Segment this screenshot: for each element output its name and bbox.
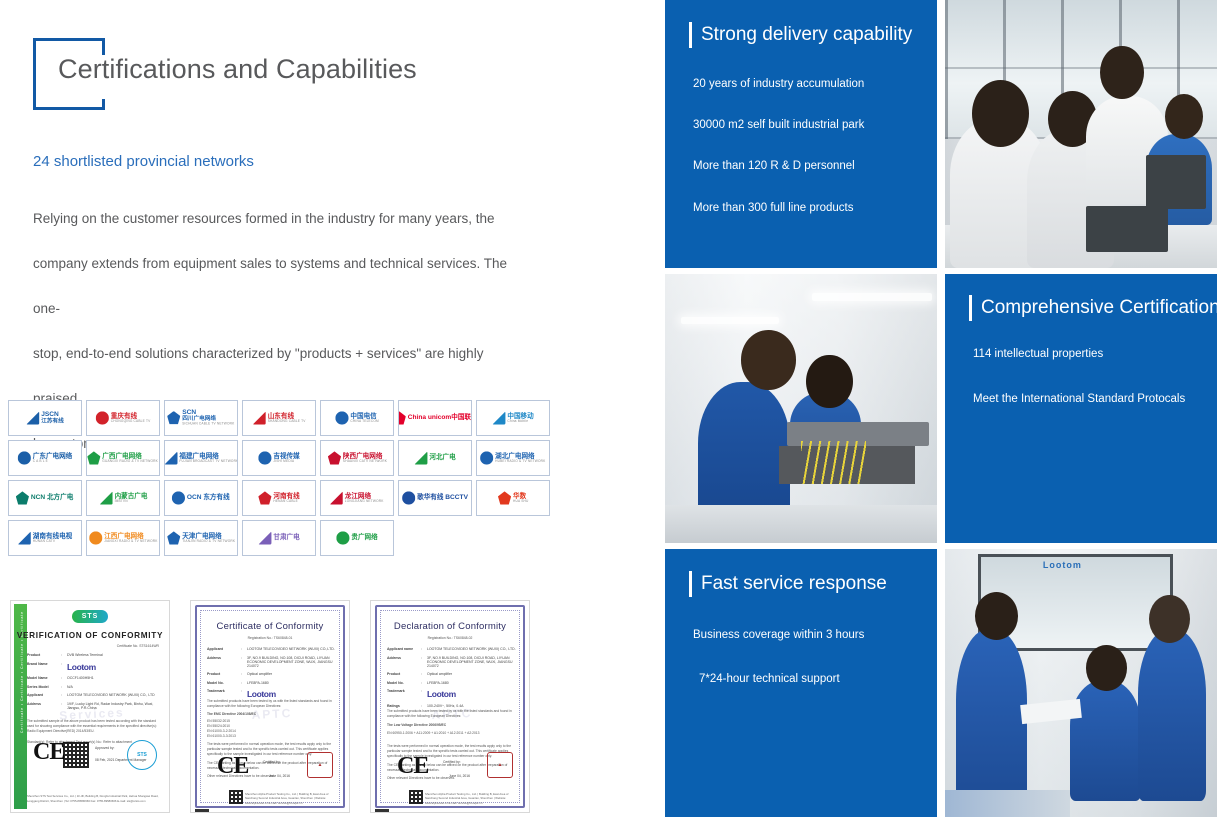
certificate-field: Model No.:LFE8PA-1680 xyxy=(207,681,339,685)
certificate-field-list: Applicant:LOOTOM TELECOVIDEO NETWORK (WU… xyxy=(207,647,339,704)
logo-name: 歌华有线 BCCTV xyxy=(417,495,468,502)
guangxi-network-logo xyxy=(88,451,101,464)
partner-logo-cell[interactable]: 湖北广电网络HUBEI RADIO & TV NETWORK xyxy=(476,440,550,476)
certificate-standards: EN 60950-1:2006 + A11:2009 + A1:2010 + A… xyxy=(387,731,519,736)
card-bullet-list: Business coverage within 3 hours 7*24-ho… xyxy=(693,629,923,685)
standard-line: EN 61000-3-3:2013 xyxy=(207,734,339,739)
certificate-field: Brand Name:Lootom xyxy=(27,662,159,672)
logo-subtitle: SHAANXI CATV NETWORK xyxy=(342,460,386,463)
guangdong-cable-logo xyxy=(18,451,31,464)
hubei-network-logo xyxy=(480,451,493,464)
field-value: 19/F, Lucky Light Rd, Radar Industry Par… xyxy=(67,702,159,710)
logo-text: 广西广电网络GUANGXI RADIO & TV NETWORK xyxy=(103,453,159,463)
field-value: Optical amplifier xyxy=(427,672,519,676)
partner-logo-cell[interactable]: 甘肃广电 xyxy=(242,520,316,556)
page-edge-marker xyxy=(195,809,209,813)
henan-cable-logo xyxy=(258,491,271,504)
field-key: Product xyxy=(387,672,421,676)
field-key: Series Model xyxy=(27,685,61,689)
sts-logo-icon: STS xyxy=(72,610,108,623)
field-value: 100-240V~, 50Hz, 0.4A xyxy=(427,704,519,708)
official-seal-icon: ▲ xyxy=(307,752,333,778)
field-value-brand: Lootom xyxy=(427,689,519,699)
china-mobile-logo xyxy=(492,411,505,424)
huashu-logo xyxy=(498,491,511,504)
field-key: Model No. xyxy=(207,681,241,685)
logo-text: 中国移动China Mobile xyxy=(507,413,533,423)
field-value: LOOTOM TELECOVIDEO NETWORK (WUXI) CO., L… xyxy=(427,647,519,651)
field-value: Optical amplifier xyxy=(247,672,339,676)
partner-logo-cell[interactable]: 贵广网络 xyxy=(320,520,394,556)
logo-lockup: 陕西广电网络SHAANXI CATV NETWORK xyxy=(327,451,386,464)
logo-text: 湖南有线电视HUNAN CATV xyxy=(33,533,72,543)
hunan-catv-logo xyxy=(18,531,31,544)
field-value: OCCF1400H5H1 xyxy=(67,676,159,680)
card-title: Strong delivery capability xyxy=(701,24,912,46)
partner-logo-cell[interactable]: 龙江网络LONGJIANG NETWORK xyxy=(320,480,394,516)
ce-mark-icon: CE xyxy=(33,739,64,766)
official-seal-icon: STS xyxy=(127,740,157,770)
card-heading: Fast service response xyxy=(689,571,887,597)
field-value: 3F, NO.9 BUILDING, NO.108, DICUI ROAD, L… xyxy=(247,656,339,668)
signature-label: Certified by: xyxy=(263,760,281,764)
logo-lockup: 江西广电网络JIANGXI RADIO & TV NETWORK xyxy=(89,531,157,544)
qr-code-icon xyxy=(409,790,423,804)
logo-text: 中国电信CHINA TELECOM xyxy=(350,413,378,423)
field-key: Applicant xyxy=(207,647,241,651)
partner-logo-cell[interactable]: 河北广电 xyxy=(398,440,472,476)
logo-text: 江西广电网络JIANGXI RADIO & TV NETWORK xyxy=(104,533,157,543)
capability-card-comprehensive-certifications: Comprehensive Certifications 114 intelle… xyxy=(945,274,1217,543)
guigang-network-logo xyxy=(336,531,349,544)
logo-subtitle: SHANDONG CABLE TV xyxy=(268,420,306,423)
card-bullet-list: 114 intellectual properties Meet the Int… xyxy=(973,348,1203,405)
shaanxi-network-logo xyxy=(327,451,340,464)
bcctv-logo xyxy=(402,491,415,504)
field-value: LFE8PA-1680 xyxy=(427,681,519,685)
partner-logo-cell[interactable]: 江西广电网络JIANGXI RADIO & TV NETWORK xyxy=(86,520,160,556)
signature-date: June 04, 2016 xyxy=(449,774,470,778)
certificate-field: Applicant:LOOTOM TELECOVIDEO NETWORK (WU… xyxy=(27,693,159,697)
logo-lockup: 华数HUA SHU xyxy=(498,491,529,504)
logo-text: 龙江网络LONGJIANG NETWORK xyxy=(345,493,384,503)
photo-production-floor xyxy=(665,274,937,543)
list-item: More than 120 R & D personnel xyxy=(693,160,923,172)
partner-logo-cell[interactable]: OCN 东方有线 xyxy=(164,480,238,516)
logo-lockup: China unicom中国联通 xyxy=(398,411,472,424)
list-item: More than 300 full line products xyxy=(693,202,923,214)
logo-text: NCN 北方广电 xyxy=(31,495,73,502)
logo-lockup: 歌华有线 BCCTV xyxy=(402,491,468,504)
list-item: 30000 m2 self built industrial park xyxy=(693,119,923,131)
photo-office-discussion: Lootom xyxy=(945,549,1217,817)
logo-text: 福建广电网络FUJIAN BROADCAST TV NETWORK xyxy=(179,453,238,463)
capability-card-strong-delivery: Strong delivery capability 20 years of i… xyxy=(665,0,937,268)
logo-text: 广东广电网络C A B L E xyxy=(33,453,72,463)
partner-logo-cell[interactable]: China unicom中国联通 xyxy=(398,400,472,436)
certificate-field: Applicant:LOOTOM TELECOVIDEO NETWORK (WU… xyxy=(207,647,339,651)
logo-text: SCN四川广电网络SICHUAN CABLE TV NETWORK xyxy=(182,410,234,426)
certificate-registration: Registration No.: TS60848-02 xyxy=(371,636,529,640)
field-key: Trademark xyxy=(207,689,241,699)
gansu-radio-tv-logo xyxy=(258,531,271,544)
logo-name: 河北广电 xyxy=(429,455,455,462)
ncn-logo xyxy=(16,491,29,504)
logo-text: 天津广电网络TIANJIN RADIO & TV NETWORK xyxy=(182,533,235,543)
field-key: Address xyxy=(207,656,241,668)
partner-logo-cell[interactable]: 广东广电网络C A B L E xyxy=(8,440,82,476)
partner-logo-cell[interactable]: 中国电信CHINA TELECOM xyxy=(320,400,394,436)
person-head xyxy=(1100,46,1144,100)
logo-text: 华数HUA SHU xyxy=(513,493,528,503)
certificate-registration: Registration No.: TS60848-01 xyxy=(191,636,349,640)
longjiang-network-logo xyxy=(330,491,343,504)
field-value-brand: Lootom xyxy=(67,662,159,672)
hebei-radio-tv-logo xyxy=(414,451,427,464)
partner-logo-cell[interactable]: 中国移动China Mobile xyxy=(476,400,550,436)
certificate-field: Trademark:Lootom xyxy=(387,689,519,699)
logo-name-cn: 江苏有线 xyxy=(41,418,64,424)
person-head xyxy=(741,330,795,389)
certificate-footer: Shenzhen Alpha Product Testing Co., Ltd.… xyxy=(245,792,339,805)
logo-text: JSCN江苏有线 xyxy=(41,412,64,425)
certificate-field: Ratings:100-240V~, 50Hz, 0.4A xyxy=(387,704,519,708)
logo-subtitle: China Mobile xyxy=(507,420,533,423)
logo-text: OCN 东方有线 xyxy=(187,495,230,502)
capability-photo-grid: Strong delivery capability 20 years of i… xyxy=(665,0,1217,823)
list-item: Business coverage within 3 hours xyxy=(693,629,923,641)
certificate-field: Address:3F, NO.9 BUILDING, NO.108, DICUI… xyxy=(387,656,519,668)
china-telecom-logo xyxy=(335,411,348,424)
logo-text: 重庆有线CHONGQING CABLE TV xyxy=(111,413,151,423)
photo-image xyxy=(665,274,937,543)
certificate-gallery: Certificate • Certificate • Certificate … xyxy=(10,600,530,813)
partner-logo-cell[interactable]: 福建广电网络FUJIAN BROADCAST TV NETWORK xyxy=(164,440,238,476)
logo-subtitle: CHINA TELECOM xyxy=(350,420,378,423)
field-key: Applicant name xyxy=(387,647,421,651)
left-content-column: Certifications and Capabilities 24 short… xyxy=(0,0,660,823)
logo-lockup: 湖南有线电视HUNAN CATV xyxy=(18,531,73,544)
partner-logo-cell[interactable]: 山东有线SHANDONG CABLE TV xyxy=(242,400,316,436)
window-brand-decal: Lootom xyxy=(1043,560,1082,570)
ribbon-text: Certificate • Certificate • Certificate … xyxy=(20,602,24,742)
qr-code-icon xyxy=(63,742,89,768)
certificate-paragraph: The submitted products have been tested … xyxy=(387,709,519,719)
qr-code-icon xyxy=(229,790,243,804)
floor-surface xyxy=(665,505,937,543)
person-figure xyxy=(1070,680,1141,801)
logo-lockup: OCN 东方有线 xyxy=(172,491,230,504)
accent-bar-icon xyxy=(689,22,692,48)
partner-logo-cell[interactable]: 重庆有线CHONGQING CABLE TV xyxy=(86,400,160,436)
card-bullet-list: 20 years of industry accumulation 30000 … xyxy=(693,78,923,214)
certificate-footer: Shenzhen Alpha Product Testing Co., Ltd.… xyxy=(425,792,519,805)
logo-lockup: 中国电信CHINA TELECOM xyxy=(335,411,378,424)
logo-subtitle: HUNAN CATV xyxy=(33,540,72,543)
field-key: Product xyxy=(207,672,241,676)
logo-text: 陕西广电网络SHAANXI CATV NETWORK xyxy=(342,453,386,463)
page-edge-marker xyxy=(375,809,389,813)
logo-lockup: 贵广网络 xyxy=(336,531,377,544)
certificate-field-list: Applicant name:LOOTOM TELECOVIDEO NETWOR… xyxy=(387,647,519,713)
accent-bar-icon xyxy=(689,571,692,597)
logo-text: China unicom中国联通 xyxy=(408,415,472,422)
field-value: LOOTOM TELECOVIDEO NETWORK (WUXI) CO., L… xyxy=(67,693,159,697)
logo-name: 甘肃广电 xyxy=(273,535,299,542)
capability-card-fast-service-response: Fast service response Business coverage … xyxy=(665,549,937,817)
china-unicom-logo xyxy=(398,411,406,424)
certificate-field: Product:DVB Wireless Terminal xyxy=(27,653,159,657)
logo-lockup: NCN 北方广电 xyxy=(16,491,73,504)
logo-name: JSCN xyxy=(41,412,64,419)
section-subheading: 24 shortlisted provincial networks xyxy=(33,153,254,170)
certificate-field: Model No.:LFE8PA-1680 xyxy=(387,681,519,685)
partner-logo-cell[interactable]: 吉视传媒JISHI MEDIA xyxy=(242,440,316,476)
tianjin-network-logo xyxy=(167,531,180,544)
desk-items xyxy=(945,790,1070,817)
logo-text: 歌华有线 BCCTV xyxy=(417,495,468,502)
partner-logo-cell[interactable]: 河南有线HENAN CABLE xyxy=(242,480,316,516)
partner-logo-cell[interactable]: 内蒙古广电IMBTVN xyxy=(86,480,160,516)
logo-text: 湖北广电网络HUBEI RADIO & TV NETWORK xyxy=(495,453,545,463)
field-value: DVB Wireless Terminal xyxy=(67,653,159,657)
partner-logo-cell[interactable]: 陕西广电网络SHAANXI CATV NETWORK xyxy=(320,440,394,476)
logo-lockup: 河北广电 xyxy=(414,451,455,464)
logo-lockup: 吉视传媒JISHI MEDIA xyxy=(258,451,299,464)
card-title: Comprehensive Certifications xyxy=(981,297,1217,319)
signature-label: Approved by: xyxy=(95,746,114,750)
logo-subtitle: JIANGXI RADIO & TV NETWORK xyxy=(104,540,157,543)
logo-text: 甘肃广电 xyxy=(273,535,299,542)
logo-subtitle: TIANJIN RADIO & TV NETWORK xyxy=(182,540,235,543)
field-key: Trademark xyxy=(387,689,421,699)
field-value: LFE8PA-1680 xyxy=(247,681,339,685)
certificate-field: Series Model:N/A xyxy=(27,685,159,689)
logo-name: OCN 东方有线 xyxy=(187,495,230,502)
jscn-logo xyxy=(26,411,39,424)
fiber-cables xyxy=(801,441,866,484)
logo-name: NCN 北方广电 xyxy=(31,495,73,502)
logo-lockup: JSCN江苏有线 xyxy=(26,411,64,424)
logo-text: 山东有线SHANDONG CABLE TV xyxy=(268,413,306,423)
ceiling-light xyxy=(681,317,779,324)
logo-lockup: 天津广电网络TIANJIN RADIO & TV NETWORK xyxy=(167,531,235,544)
list-item: 20 years of industry accumulation xyxy=(693,78,923,90)
partner-logo-cell[interactable]: 歌华有线 BCCTV xyxy=(398,480,472,516)
certificate-field: Model Name:OCCF1400H5H1 xyxy=(27,676,159,680)
logo-subtitle: HUBEI RADIO & TV NETWORK xyxy=(495,460,545,463)
logo-lockup: 甘肃广电 xyxy=(258,531,299,544)
ceiling-light xyxy=(812,293,932,301)
person-figure xyxy=(1138,629,1206,801)
certificate-title: Certificate of Conformity xyxy=(191,621,349,632)
field-value: LOOTOM TELECOVIDEO NETWORK (WUXI) CO.,LT… xyxy=(247,647,339,651)
certificate-standards: EN 55032:2015 EN 55024:2010 EN 61000-3-2… xyxy=(207,719,339,739)
title-block: Certifications and Capabilities xyxy=(33,38,463,110)
certificate-title: VERIFICATION OF CONFORMITY xyxy=(11,631,169,640)
logo-subtitle: FUJIAN BROADCAST TV NETWORK xyxy=(179,460,238,463)
field-value-brand: Lootom xyxy=(247,689,339,699)
field-value: N/A xyxy=(67,685,159,689)
certificate-field-list: Product:DVB Wireless Terminal Brand Name… xyxy=(27,653,159,715)
certificate-footer: Shenzhen STS Test Services Co., Ltd. | 1… xyxy=(27,794,161,803)
certificate-field: Applicant name:LOOTOM TELECOVIDEO NETWOR… xyxy=(387,647,519,651)
slide-root: Certifications and Capabilities 24 short… xyxy=(0,0,1217,823)
signature-date: June 04, 2016 xyxy=(269,774,290,778)
person-figure xyxy=(956,629,1027,817)
logo-lockup: 中国移动China Mobile xyxy=(492,411,533,424)
photo-engineers-lab xyxy=(945,0,1217,268)
logo-subtitle: CHONGQING CABLE TV xyxy=(111,420,151,423)
card-heading: Comprehensive Certifications xyxy=(969,295,1217,321)
photo-image xyxy=(945,0,1217,268)
partner-logo-cell[interactable]: NCN 北方广电 xyxy=(8,480,82,516)
logo-text: 河南有线HENAN CABLE xyxy=(273,493,299,503)
logo-lockup: 广东广电网络C A B L E xyxy=(18,451,73,464)
logo-text: 河北广电 xyxy=(429,455,455,462)
jiangxi-network-logo xyxy=(89,531,102,544)
field-key: Address xyxy=(387,656,421,668)
field-key: Product xyxy=(27,653,61,657)
paragraph-line: Relying on the customer resources formed… xyxy=(33,196,523,241)
partner-logo-cell[interactable]: 广西广电网络GUANGXI RADIO & TV NETWORK xyxy=(86,440,160,476)
certificate-card[interactable]: Certificate of Conformity Registration N… xyxy=(190,600,350,813)
logo-subtitle: JISHI MEDIA xyxy=(273,460,299,463)
certificate-paragraph: The submitted sample of the above produc… xyxy=(27,719,159,734)
field-key: Model No. xyxy=(387,681,421,685)
logo-lockup: 龙江网络LONGJIANG NETWORK xyxy=(330,491,384,504)
paragraph-line: company extends from equipment sales to … xyxy=(33,241,523,331)
certificate-card[interactable]: Certificate • Certificate • Certificate … xyxy=(10,600,170,813)
shandong-cable-logo xyxy=(253,411,266,424)
partner-logo-grid: JSCN江苏有线重庆有线CHONGQING CABLE TVSCN四川广电网络S… xyxy=(8,400,568,556)
logo-lockup: 福建广电网络FUJIAN BROADCAST TV NETWORK xyxy=(164,451,238,464)
card-heading: Strong delivery capability xyxy=(689,22,912,48)
partner-logo-cell[interactable]: JSCN江苏有线 xyxy=(8,400,82,436)
logo-text: 贵广网络 xyxy=(351,535,377,542)
official-seal-icon: ▲ xyxy=(487,752,513,778)
list-item: 7*24-hour technical support xyxy=(699,673,923,685)
logo-subtitle: HENAN CABLE xyxy=(273,500,299,503)
logo-lockup: 内蒙古广电IMBTVN xyxy=(99,491,147,504)
logo-subtitle: C A B L E xyxy=(33,460,72,463)
card-title: Fast service response xyxy=(701,573,887,595)
list-item: 114 intellectual properties xyxy=(973,348,1203,360)
logo-lockup: 重庆有线CHONGQING CABLE TV xyxy=(96,411,151,424)
certificate-card[interactable]: Declaration of Conformity Registration N… xyxy=(370,600,530,813)
certificate-paragraph: The submitted products have been tested … xyxy=(207,699,339,709)
field-value: 3F, NO.9 BUILDING, NO.108, DICUI ROAD, L… xyxy=(427,656,519,668)
inner-mongolia-logo xyxy=(99,491,112,504)
certificate-registration: Certificate No. STS1614WR xyxy=(117,644,159,648)
logo-subtitle: SICHUAN CABLE TV NETWORK xyxy=(182,423,234,426)
fujian-broadcast-logo xyxy=(164,451,177,464)
list-item: Meet the International Standard Protocal… xyxy=(973,393,1203,405)
logo-lockup: 广西广电网络GUANGXI RADIO & TV NETWORK xyxy=(88,451,159,464)
logo-name: China unicom中国联通 xyxy=(408,415,472,422)
logo-subtitle: LONGJIANG NETWORK xyxy=(345,500,384,503)
logo-subtitle: HUA SHU xyxy=(513,500,528,503)
chongqing-cable-logo xyxy=(96,411,109,424)
certificate-field: Trademark:Lootom xyxy=(207,689,339,699)
partner-logo-cell[interactable]: SCN四川广电网络SICHUAN CABLE TV NETWORK xyxy=(164,400,238,436)
partner-logo-cell[interactable]: 湖南有线电视HUNAN CATV xyxy=(8,520,82,556)
certificate-field: Product:Optical amplifier xyxy=(207,672,339,676)
logo-text: 吉视传媒JISHI MEDIA xyxy=(273,453,299,463)
field-key: Address xyxy=(27,702,61,710)
ce-mark-icon: CE xyxy=(217,753,248,780)
signature-label: Certified by: xyxy=(443,760,461,764)
jishi-media-logo xyxy=(258,451,271,464)
certificate-directive-title: The Low Voltage Directive 2006/95/EC xyxy=(387,723,519,728)
certificate-field: Address:19/F, Lucky Light Rd, Radar Indu… xyxy=(27,702,159,710)
laptop xyxy=(1146,155,1206,209)
field-key: Applicant xyxy=(27,693,61,697)
certificate-field: Product:Optical amplifier xyxy=(387,672,519,676)
field-key: Ratings xyxy=(387,704,421,708)
logo-text: 内蒙古广电IMBTVN xyxy=(114,493,147,503)
logo-name: 贵广网络 xyxy=(351,535,377,542)
logo-lockup: SCN四川广电网络SICHUAN CABLE TV NETWORK xyxy=(167,410,234,426)
logo-lockup: 湖北广电网络HUBEI RADIO & TV NETWORK xyxy=(480,451,545,464)
ce-mark-icon: CE xyxy=(397,753,428,780)
page-title: Certifications and Capabilities xyxy=(58,54,417,85)
person-head xyxy=(1086,645,1127,691)
field-key: Model Name xyxy=(27,676,61,680)
field-key: Brand Name xyxy=(27,662,61,672)
partner-logo-cell[interactable]: 天津广电网络TIANJIN RADIO & TV NETWORK xyxy=(164,520,238,556)
certificate-title: Declaration of Conformity xyxy=(371,621,529,632)
accent-bar-icon xyxy=(969,295,972,321)
partner-logo-cell[interactable]: 华数HUA SHU xyxy=(476,480,550,516)
logo-lockup: 山东有线SHANDONG CABLE TV xyxy=(253,411,306,424)
person-head xyxy=(806,355,852,409)
logo-lockup: 河南有线HENAN CABLE xyxy=(258,491,299,504)
laptop xyxy=(1086,206,1168,252)
photo-image: Lootom xyxy=(945,549,1217,817)
certificate-field: Address:3F, NO.9 BUILDING, NO.108, DICUI… xyxy=(207,656,339,668)
standard-line: EN 60950-1:2006 + A11:2009 + A1:2010 + A… xyxy=(387,731,519,736)
certificate-directive-title: The EMC Directive 2004/108/EC xyxy=(207,712,339,717)
scn-logo xyxy=(167,411,180,424)
ocn-logo xyxy=(172,491,185,504)
logo-subtitle: IMBTVN xyxy=(114,500,147,503)
person-head xyxy=(1149,595,1190,643)
logo-subtitle: GUANGXI RADIO & TV NETWORK xyxy=(103,460,159,463)
